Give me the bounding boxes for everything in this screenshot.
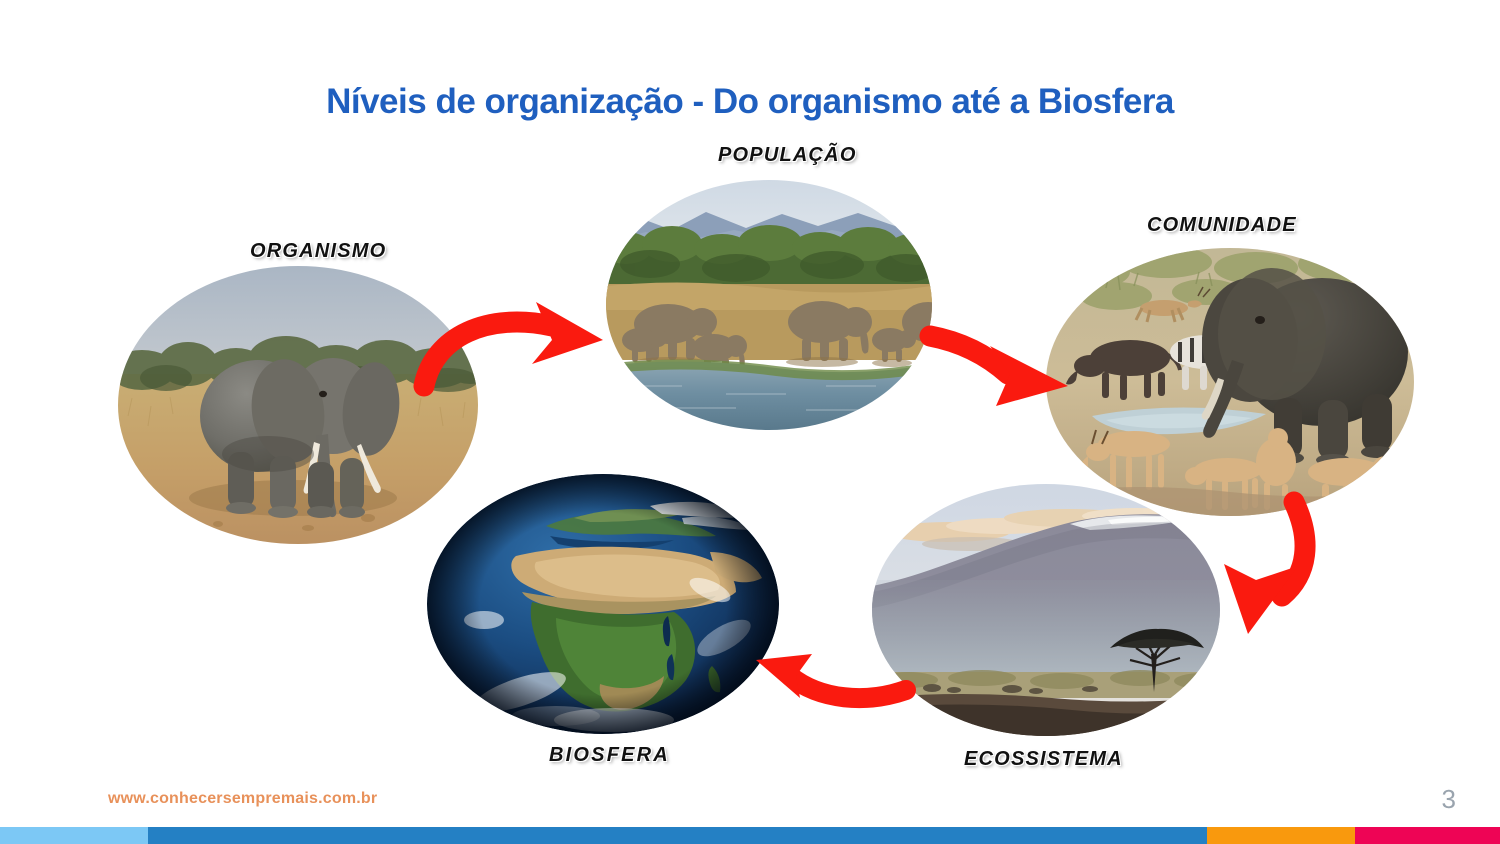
image-biosfera bbox=[424, 470, 782, 738]
arrow-comunidade-ecossistema bbox=[1224, 502, 1305, 634]
footer-website-url[interactable]: www.conhecersempremais.com.br bbox=[108, 790, 377, 808]
node-biosfera bbox=[424, 470, 782, 738]
image-populacao bbox=[606, 180, 932, 430]
bar-segment-blue bbox=[148, 827, 1207, 844]
bar-segment-light-blue bbox=[0, 827, 148, 844]
label-organismo: ORGANISMO bbox=[250, 240, 386, 263]
node-ecossistema bbox=[872, 484, 1220, 736]
image-ecossistema bbox=[872, 484, 1220, 736]
label-biosfera: BIOSFERA bbox=[549, 744, 670, 767]
label-populacao: POPULAÇÃO bbox=[718, 144, 857, 167]
bar-segment-orange bbox=[1207, 827, 1355, 844]
page-number: 3 bbox=[1442, 784, 1456, 815]
bottom-color-bar bbox=[0, 827, 1500, 844]
bar-segment-crimson bbox=[1355, 827, 1500, 844]
node-comunidade bbox=[1046, 248, 1414, 516]
node-populacao bbox=[606, 180, 932, 430]
label-comunidade: COMUNIDADE bbox=[1147, 214, 1297, 237]
label-ecossistema: ECOSSISTEMA bbox=[964, 748, 1123, 771]
page-title: Níveis de organização - Do organismo até… bbox=[0, 82, 1500, 122]
slide-canvas: Níveis de organização - Do organismo até… bbox=[0, 0, 1500, 844]
image-comunidade bbox=[1046, 248, 1414, 516]
